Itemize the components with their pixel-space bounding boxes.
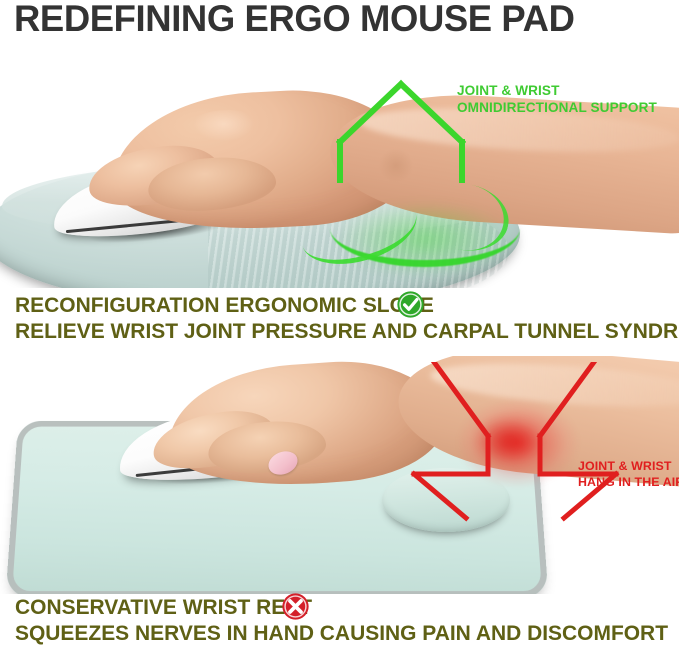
check-circle-green-icon [396,290,425,319]
red-callout-line2: HANG IN THE AIR [578,474,679,490]
red-callout: JOINT & WRIST HANG IN THE AIR [578,458,679,490]
section-ergonomic-good: JOINT & WRIST OMNIDIRECTIONAL SUPPORT [0,40,679,288]
green-callout-line1: JOINT & WRIST [457,82,679,99]
section-conservative-bad: JOINT & WRIST HANG IN THE AIR [0,356,679,594]
green-callout-line2: OMNIDIRECTIONAL SUPPORT [457,99,679,116]
green-callout: JOINT & WRIST OMNIDIRECTIONAL SUPPORT [457,82,679,116]
caption-good-line2: RELIEVE WRIST JOINT PRESSURE AND CARPAL … [15,318,679,344]
caption-bad-line1: CONSERVATIVE WRIST REST [15,594,312,620]
arrow-up-outline-green-icon [336,76,466,188]
red-callout-line1: JOINT & WRIST [578,458,679,474]
caption-good-line1: RECONFIGURATION ERGONOMIC SLOPE [15,292,434,318]
caption-bad: CONSERVATIVE WRIST REST SQUEEZES NERVES … [0,594,679,650]
x-circle-red-icon [281,592,310,621]
product-infographic: REDEFINING ERGO MOUSE PAD JOINT & WRIST … [0,0,679,650]
arrow-down-outline-red-icon [404,362,622,522]
caption-good: RECONFIGURATION ERGONOMIC SLOPE RELIEVE … [0,292,679,352]
knuckle-highlight [186,110,270,150]
caption-bad-line2: SQUEEZES NERVES IN HAND CAUSING PAIN AND… [15,620,668,646]
page-title: REDEFINING ERGO MOUSE PAD [14,0,654,40]
